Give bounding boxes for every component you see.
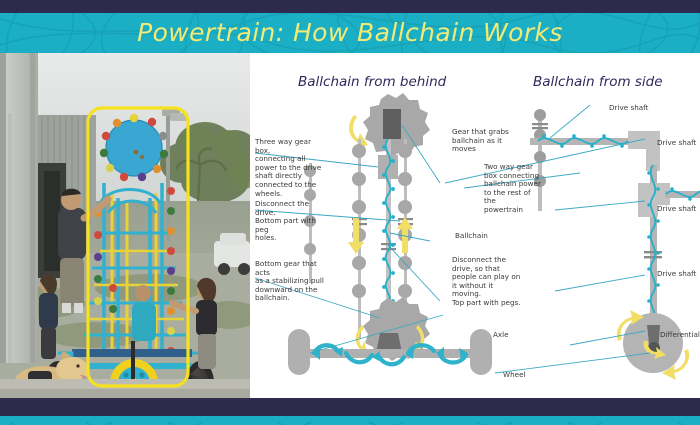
annotation-drive-shaft-upper-right: Drive shaft xyxy=(657,139,700,148)
annotation-drive-shaft-middle-right: Drive shaft xyxy=(657,205,700,214)
annotation-disconnect-drive-top: Disconnect the drive, so that people can… xyxy=(452,256,524,308)
annotation-drive-shaft-top: Drive shaft xyxy=(609,104,669,113)
annotation-drive-shaft-lower-right: Drive shaft xyxy=(657,270,700,279)
annotation-disconnect-drive-bottom: Disconnect the drive. Bottom part with p… xyxy=(255,200,329,243)
heading-ballchain-from-side: Ballchain from side xyxy=(533,74,663,90)
poster-page: Powertrain: How Ballchain Works xyxy=(0,0,700,425)
annotation-two-way-gear-box: Two way gear box connecting ballchain po… xyxy=(484,163,544,215)
annotation-differential: Differential xyxy=(660,331,700,340)
footer-navy-bar xyxy=(0,398,700,416)
page-title: Powertrain: How Ballchain Works xyxy=(0,13,700,53)
annotation-bottom-gear: Bottom gear that acts as a stabilizing p… xyxy=(255,260,331,303)
annotation-wheel: Wheel xyxy=(503,371,543,380)
annotation-ballchain: Ballchain xyxy=(455,232,515,241)
annotation-three-way-gear-box: Three way gear box, connecting all power… xyxy=(255,138,327,198)
annotation-gear-that-grabs: Gear that grabs ballchain as it moves xyxy=(452,128,520,154)
annotation-axle: Axle xyxy=(493,331,533,340)
heading-ballchain-from-behind: Ballchain from behind xyxy=(298,74,446,90)
ballchain-tower-photo xyxy=(0,53,250,398)
footer-teal-bar xyxy=(0,416,700,425)
top-navy-bar xyxy=(0,0,700,13)
